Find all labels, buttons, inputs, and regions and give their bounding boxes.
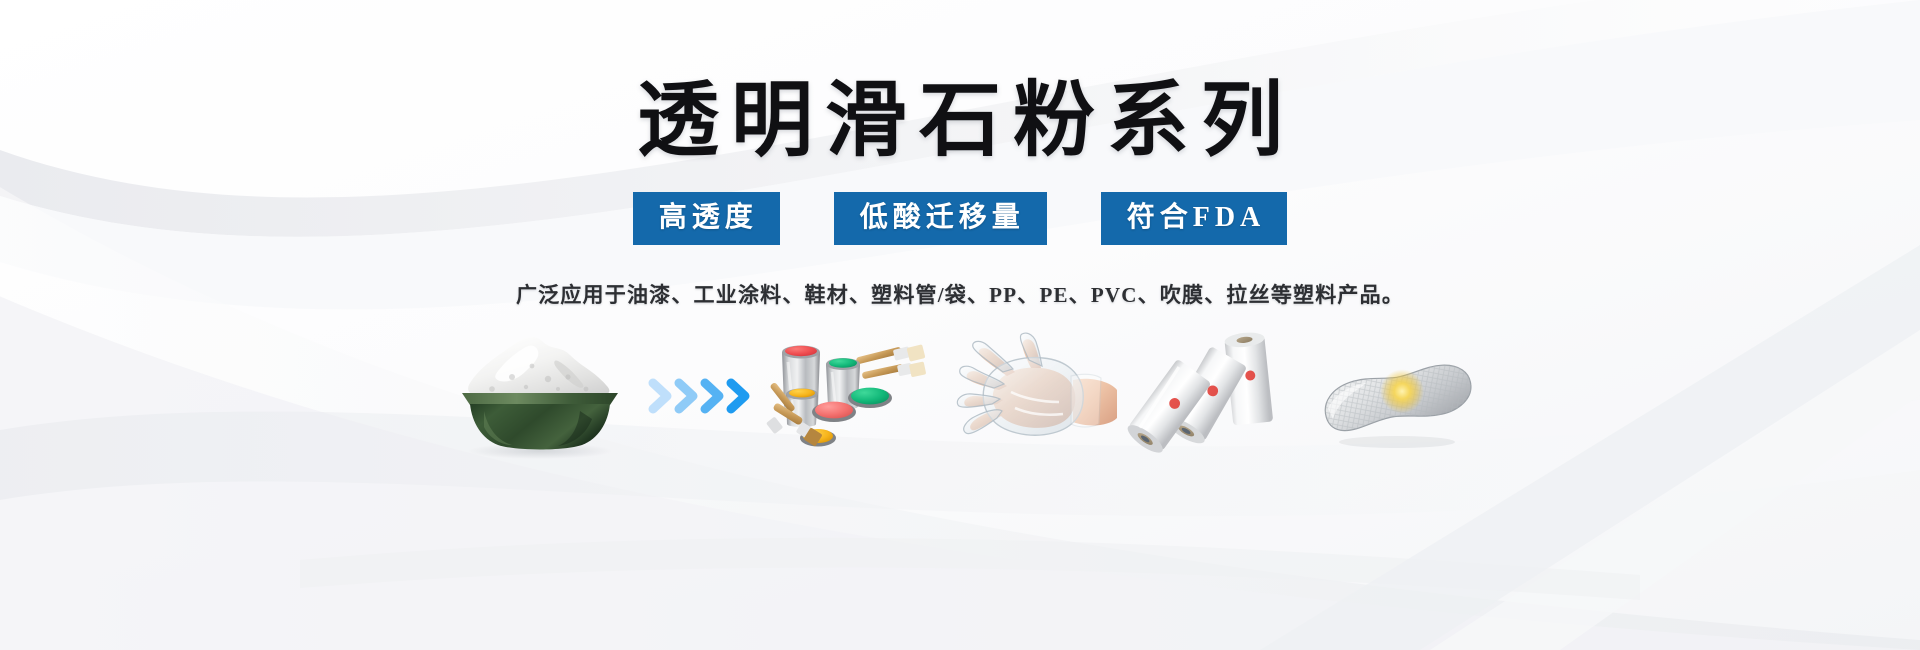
feature-badge-high-transparency: 高透度: [633, 192, 780, 245]
feature-badge-low-acid-migration: 低酸迁移量: [834, 192, 1047, 245]
chevron-1-icon: [653, 383, 667, 409]
bowl-body: [470, 404, 610, 450]
glove-hand-svg: [945, 332, 1117, 460]
talc-powder-heap: [468, 337, 609, 395]
feature-badge-fda-compliant: 符合FDA: [1101, 192, 1288, 245]
feature-badge-list: 高透度 低酸迁移量 符合FDA: [633, 192, 1288, 245]
talc-powder-bowl-image: [440, 331, 640, 461]
pe-glove-hand-image: [943, 331, 1118, 461]
chevron-3-icon: [705, 383, 719, 409]
sole-body-group: [1318, 350, 1476, 445]
arrow-chevrons-icon: [646, 331, 756, 461]
paint-brush-upper-1: [855, 344, 925, 364]
shoe-sole-image: [1305, 331, 1480, 461]
shoe-sole-svg: [1307, 332, 1479, 460]
glove-cuff: [1071, 374, 1101, 427]
paint-brush-upper-2: [861, 362, 926, 380]
paint-cans-image: [762, 331, 937, 461]
chevron-2-icon: [679, 383, 693, 409]
application-description: 广泛应用于油漆、工业涂料、鞋材、塑料管/袋、PP、PE、PVC、吹膜、拉丝等塑料…: [516, 279, 1404, 309]
sole-shadow: [1339, 436, 1455, 448]
paint-cans-svg: [764, 332, 936, 460]
application-gallery: [410, 331, 1510, 461]
bowl-rim: [462, 393, 618, 405]
film-rolls-svg: [1126, 332, 1298, 460]
banner-content: 透明滑石粉系列 高透度 低酸迁移量 符合FDA 广泛应用于油漆、工业涂料、鞋材、…: [0, 0, 1920, 650]
talc-bowl-svg: [440, 331, 640, 461]
product-banner: 透明滑石粉系列 高透度 低酸迁移量 符合FDA 广泛应用于油漆、工业涂料、鞋材、…: [0, 0, 1920, 650]
plastic-film-rolls-image: [1124, 331, 1299, 461]
chevron-4-icon: [731, 383, 745, 409]
page-title: 透明滑石粉系列: [625, 78, 1295, 164]
chevrons-svg: [647, 374, 755, 418]
